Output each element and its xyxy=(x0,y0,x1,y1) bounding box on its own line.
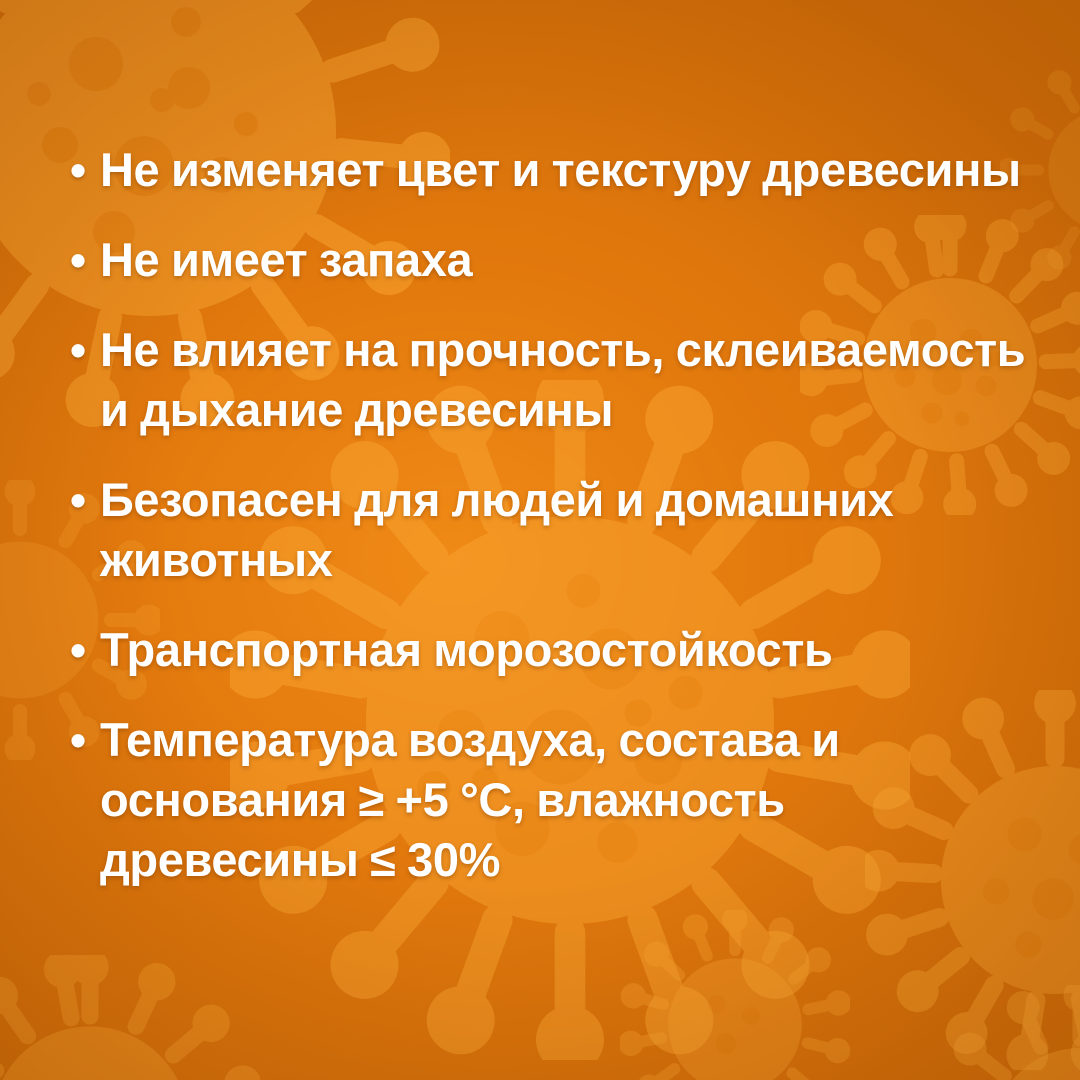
list-item: • Не влияет на прочность, склеиваемость … xyxy=(70,320,1030,440)
bullet-list: • Не изменяет цвет и текстуру древесины … xyxy=(70,140,1030,920)
bullet-marker-icon: • xyxy=(70,620,100,680)
bullet-marker-icon: • xyxy=(70,140,100,200)
list-item: • Температура воздуха, состава и основан… xyxy=(70,710,1030,890)
bullet-text: Не имеет запаха xyxy=(100,230,1030,290)
bullet-text: Транспортная морозостойкость xyxy=(100,620,1030,680)
bullet-text: Не влияет на прочность, склеиваемость и … xyxy=(100,320,1030,440)
bullet-text: Безопасен для людей и домашних животных xyxy=(100,470,1030,590)
bullet-marker-icon: • xyxy=(70,320,100,380)
bullet-marker-icon: • xyxy=(70,470,100,530)
list-item: • Безопасен для людей и домашних животны… xyxy=(70,470,1030,590)
list-item: • Не изменяет цвет и текстуру древесины xyxy=(70,140,1030,200)
bullet-text: Не изменяет цвет и текстуру древесины xyxy=(100,140,1030,200)
bullet-marker-icon: • xyxy=(70,230,100,290)
list-item: • Транспортная морозостойкость xyxy=(70,620,1030,680)
slide-canvas: • Не изменяет цвет и текстуру древесины … xyxy=(0,0,1080,1080)
bullet-text: Температура воздуха, состава и основания… xyxy=(100,710,1030,890)
list-item: • Не имеет запаха xyxy=(70,230,1030,290)
bullet-marker-icon: • xyxy=(70,710,100,770)
